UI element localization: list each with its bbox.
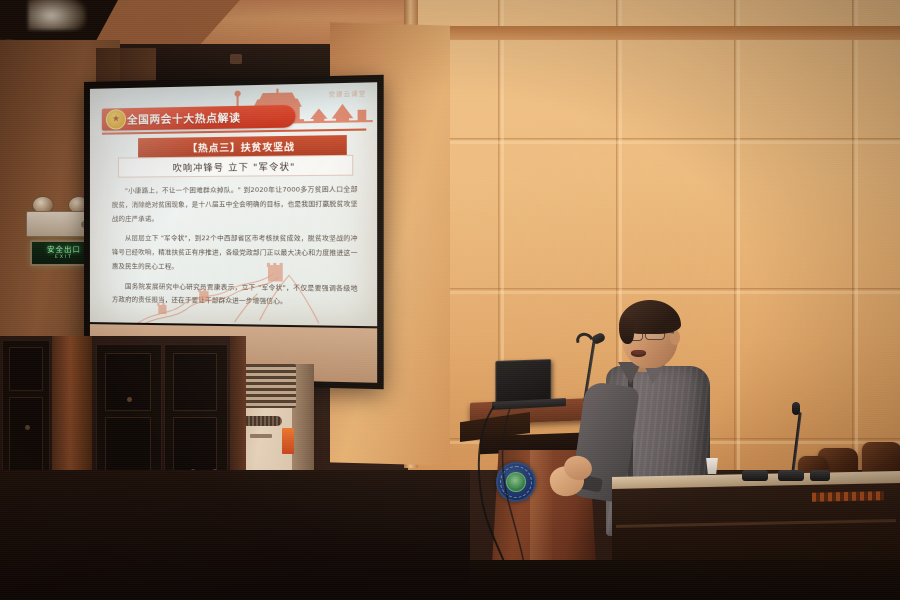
desk-microphone-base (778, 470, 804, 481)
slide-banner-title: 全国两会十大热点解读 (127, 109, 241, 126)
table-control-panel[interactable] (812, 491, 884, 502)
desk-microphone-short[interactable] (742, 452, 772, 486)
door-panel (173, 353, 217, 411)
slide-headline-text: 【热点三】扶贫攻坚战 (187, 138, 294, 154)
ac-energy-sticker (282, 428, 294, 454)
floor (470, 560, 900, 600)
slide-watermark: 党建云课堂 (329, 89, 367, 99)
exit-sign-label-en: EXIT (55, 256, 73, 261)
slide-paragraph-1: "小康路上，不让一个困难群众掉队。" 到2020年让7000多万贫困人口全部脱贫… (112, 183, 358, 226)
presentation-slide: 党建云课堂 ★ 全国两会十大热点解读 【热点三】扶贫攻坚战 吹响冲锋号 立下 "… (90, 82, 377, 326)
lecture-hall-photo: 安全出口 EXIT (0, 0, 900, 600)
ac-air-vent (242, 416, 282, 426)
exit-sign-label-cn: 安全出口 (47, 246, 81, 254)
desk-microphone-gooseneck (791, 412, 801, 474)
desk-microphone-base (810, 470, 830, 481)
door-panel (9, 347, 43, 391)
spotlight-glow (28, 0, 86, 30)
slide-subheadline-text: 吹响冲锋号 立下 "军令状" (173, 159, 296, 174)
foreground-shadow-area (0, 470, 470, 600)
desk-microphone-tall[interactable] (770, 402, 810, 486)
party-emblem-icon: ★ (106, 109, 126, 129)
institutional-emblem-icon (496, 462, 536, 502)
speaker-hair-sideburn (619, 316, 634, 344)
door-knob[interactable] (127, 397, 132, 402)
projection-screen-surface: 党建云课堂 ★ 全国两会十大热点解读 【热点三】扶贫攻坚战 吹响冲锋号 立下 "… (90, 82, 377, 326)
desk-microphone-side[interactable] (810, 456, 840, 486)
door-knob[interactable] (25, 425, 30, 430)
door-panel (9, 397, 43, 475)
slide-subheadline-box: 吹响冲锋号 立下 "军令状" (118, 155, 353, 178)
emblem-outer-ring (500, 466, 532, 498)
great-wall-illustration (136, 262, 323, 326)
screen-mount-clip (230, 54, 242, 64)
slide-headline-bar: 【热点三】扶贫攻坚战 (138, 135, 347, 157)
ac-brand-label (250, 434, 272, 438)
slide-title-banner: ★ 全国两会十大热点解读 (102, 105, 296, 131)
door-panel (105, 353, 151, 411)
desk-microphone-base (742, 470, 768, 481)
speaker-mouth (631, 350, 646, 357)
wall-top-trim (418, 26, 900, 40)
